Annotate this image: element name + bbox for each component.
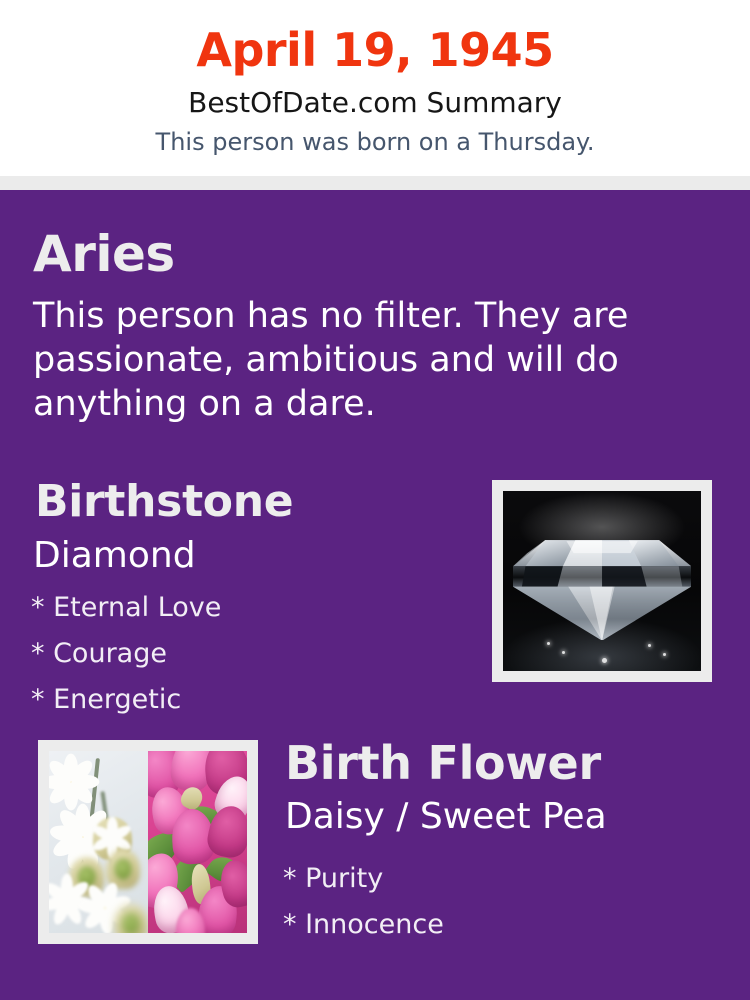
site-name-subtitle: BestOfDate.com Summary [0,85,750,121]
birthstone-heading: Birthstone [35,475,293,529]
birthstone-trait-list: * Eternal Love * Courage * Energetic [31,585,461,723]
header-divider [0,176,750,190]
daisy-flower-icon [49,755,95,810]
daisy-sweet-pea-photo [49,751,247,933]
diamond-photo [503,491,701,671]
list-item: * Purity [283,856,683,902]
birthstone-name: Diamond [33,533,196,579]
daisy-bud-icon [114,904,148,933]
birth-flower-image-frame [38,740,258,944]
sparkle-icon [663,653,666,656]
birthstone-image-frame [492,480,712,682]
list-item: * Energetic [31,677,461,723]
sparkle-icon [547,642,550,645]
page-header: April 19, 1945 BestOfDate.com Summary Th… [0,0,750,176]
birth-flower-name: Daisy / Sweet Pea [285,794,607,840]
sparkle-icon [562,651,565,654]
birth-flower-heading: Birth Flower [285,735,601,791]
sparkle-icon [648,644,651,647]
weekday-note: This person was born on a Thursday. [0,126,750,158]
list-item: * Eternal Love [31,585,461,631]
birth-flower-trait-list: * Purity * Innocence [283,856,683,948]
diamond-icon [513,529,691,641]
zodiac-description: This person has no filter. They are pass… [33,294,643,426]
sweet-pea-photo-half [148,751,247,933]
sparkle-icon [602,658,607,663]
daisy-photo-half [49,751,148,933]
zodiac-sign-title: Aries [33,224,175,284]
page-title-date: April 19, 1945 [0,22,750,78]
birthday-summary-page: April 19, 1945 BestOfDate.com Summary Th… [0,0,750,1000]
list-item: * Courage [31,631,461,677]
list-item: * Innocence [283,902,683,948]
